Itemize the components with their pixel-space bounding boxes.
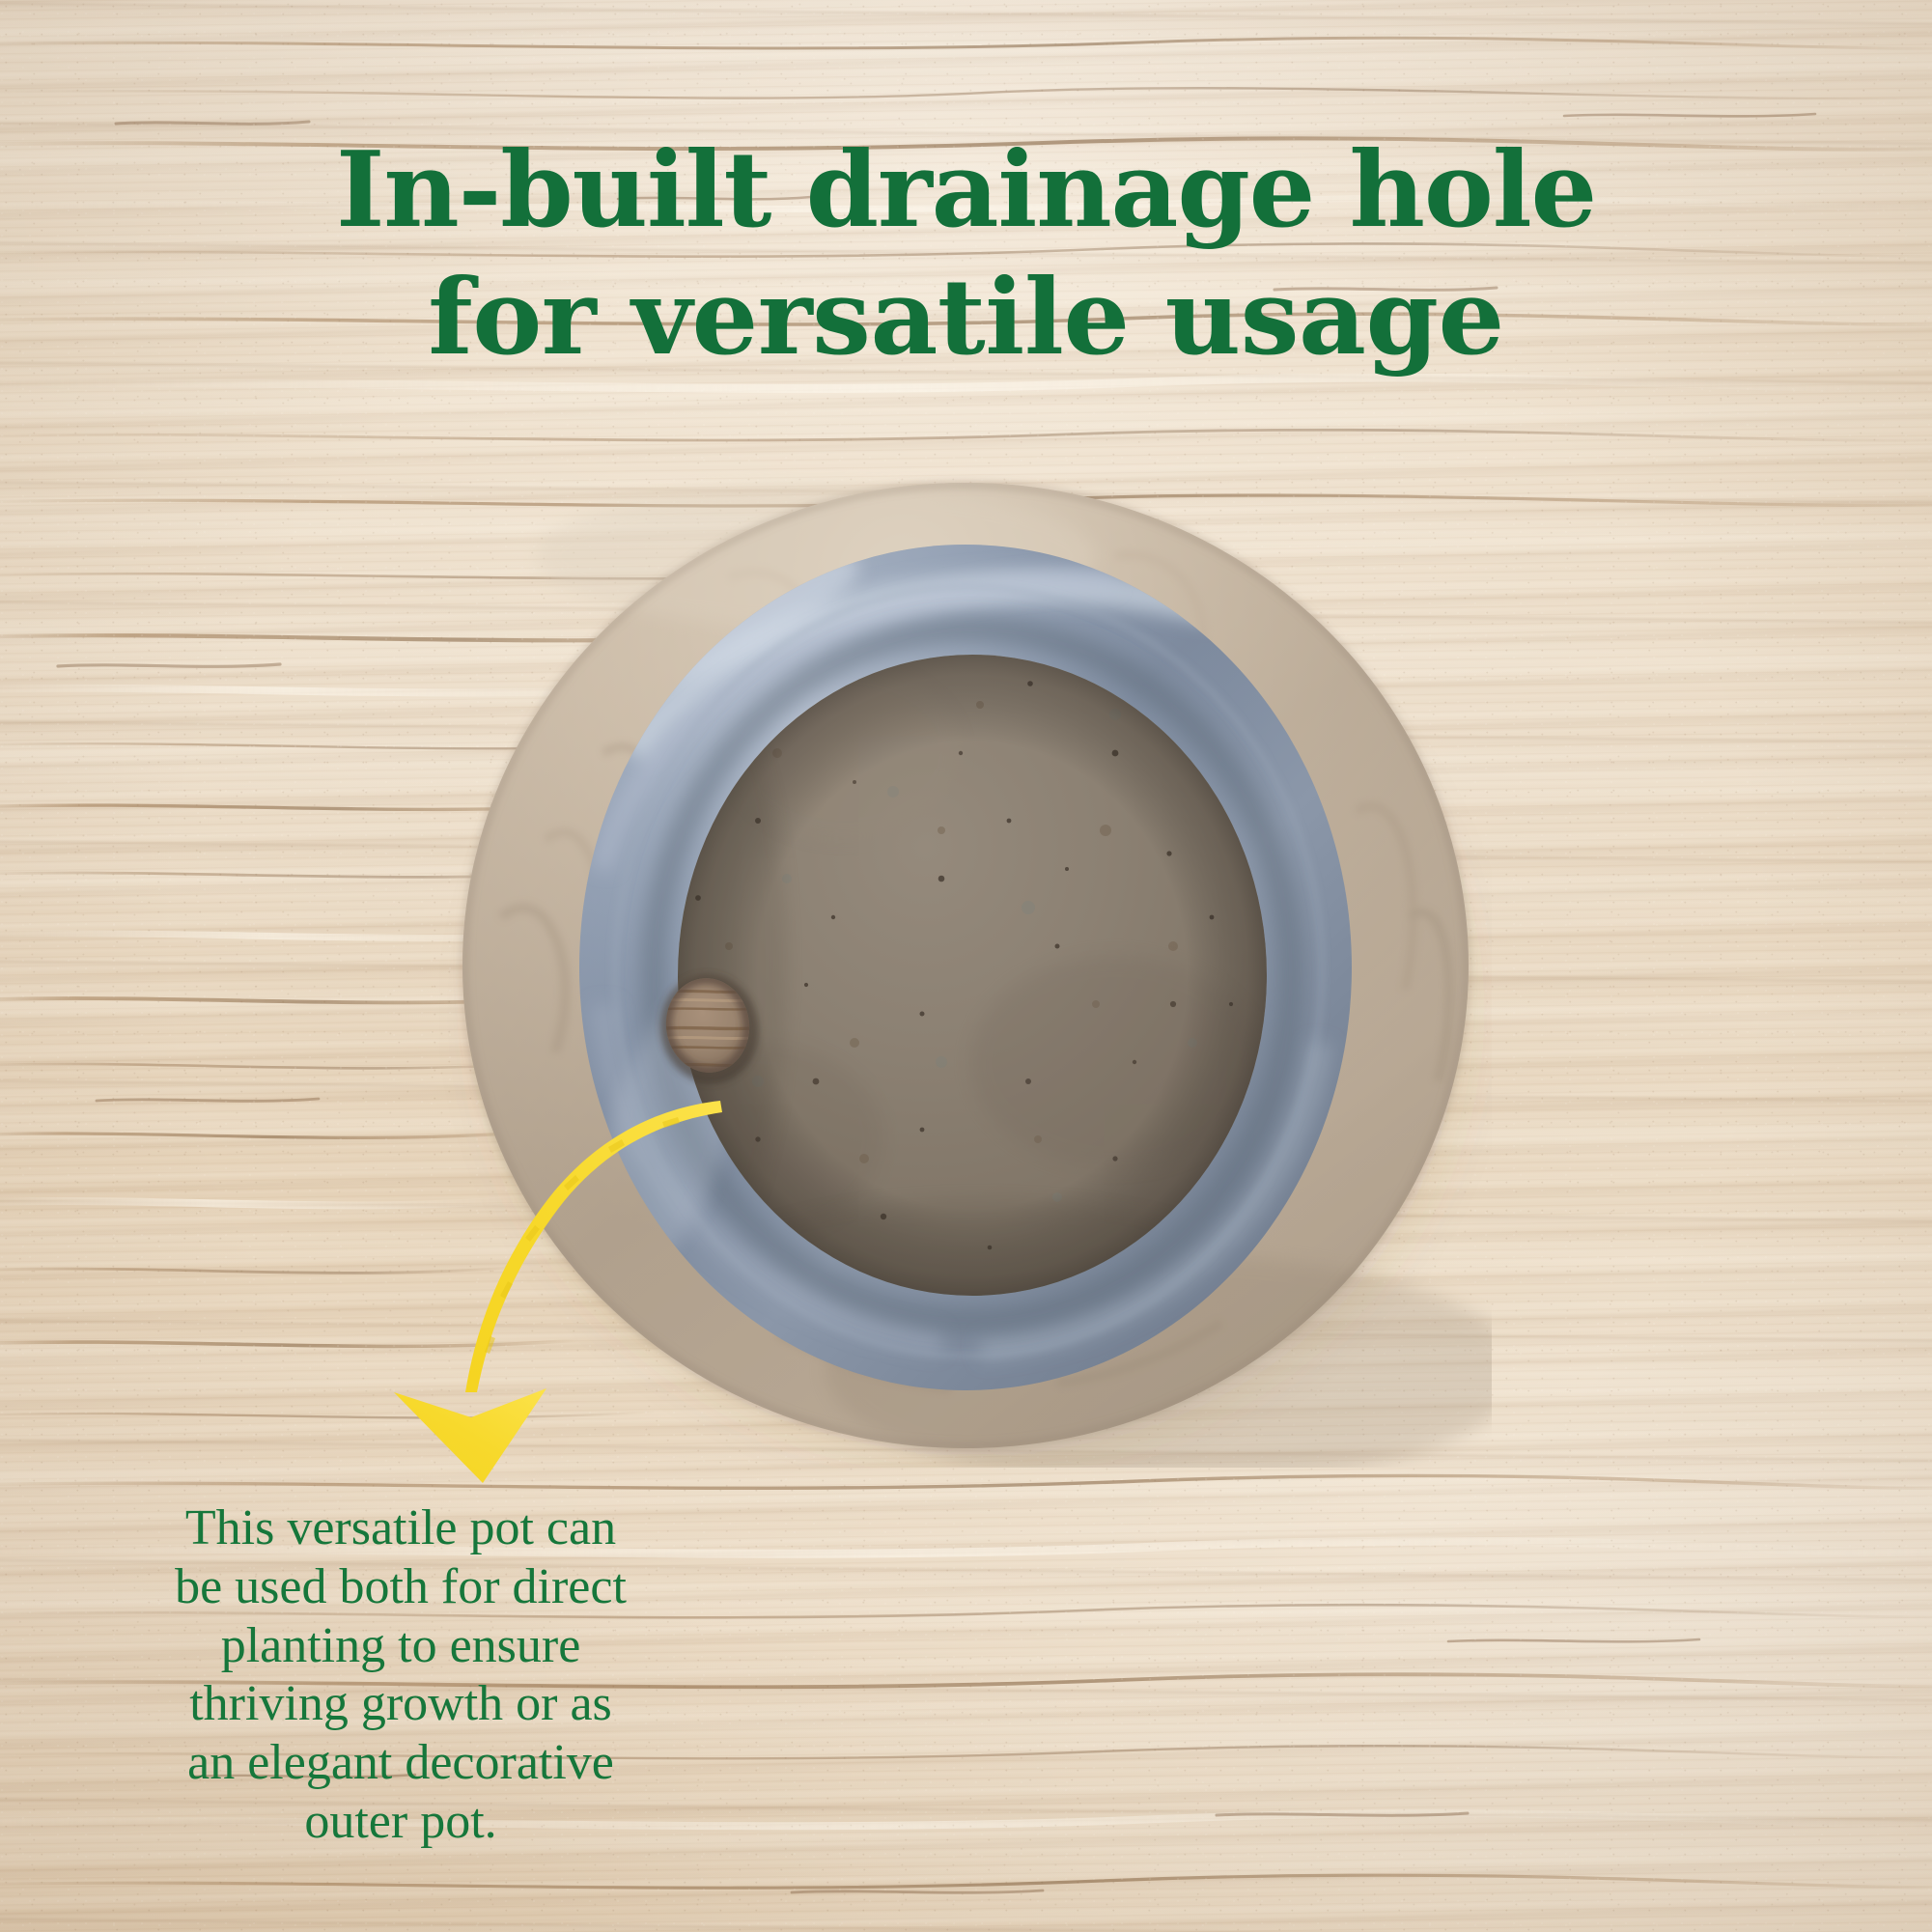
caption-line-2: be used both for direct <box>106 1558 695 1617</box>
page-title: In-built drainage hole for versatile usa… <box>0 127 1932 382</box>
product-feature-image: In-built drainage hole for versatile usa… <box>0 0 1932 1932</box>
headline-line-2: for versatile usage <box>0 255 1932 382</box>
ceramic-planter-top-view-icon <box>439 463 1492 1468</box>
headline-line-1: In-built drainage hole <box>0 127 1932 255</box>
caption-line-4: thriving growth or as <box>106 1675 695 1734</box>
caption-line-6: outer pot. <box>106 1793 695 1852</box>
caption-line-5: an elegant decorative <box>106 1734 695 1793</box>
caption-line-1: This versatile pot can <box>106 1499 695 1558</box>
caption-line-3: planting to ensure <box>106 1617 695 1676</box>
feature-caption: This versatile pot can be used both for … <box>106 1499 695 1852</box>
